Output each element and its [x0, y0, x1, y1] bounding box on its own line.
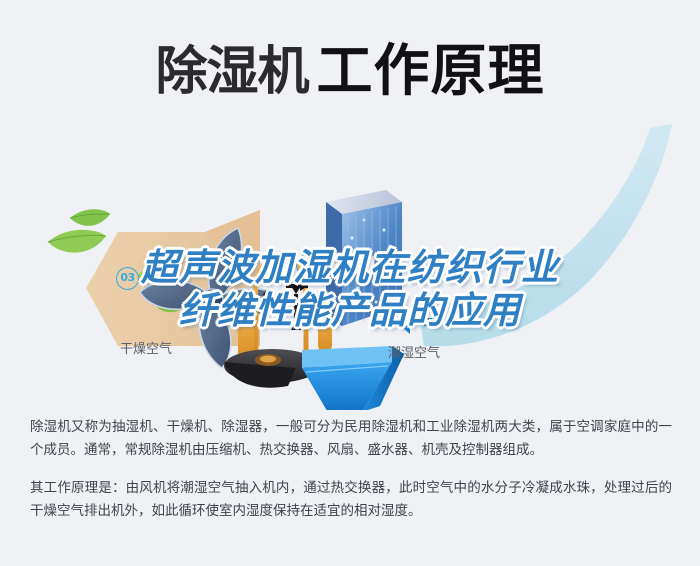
note-condensation: 器冷凝成水珠: [508, 407, 592, 410]
body-paragraph-2: 其工作原理是：由风机将潮湿空气抽入机内，通过热交换器，此时空气中的水分子冷凝成水…: [30, 477, 672, 523]
badge-step-humid-air: 01: [372, 306, 395, 329]
page-title-part2: 工作原理: [317, 39, 545, 102]
body-paragraph-1: 除湿机又称为抽湿机、干燥机、除湿器，一般可分为民用除湿机和工业除湿机两大类，属于…: [30, 416, 672, 462]
page-root: 除湿机工作原理: [0, 0, 700, 566]
callout-pointer-icon: [337, 271, 347, 282]
page-title-part1: 除湿机: [155, 43, 308, 101]
label-dry-air: 干燥空气: [120, 338, 172, 357]
page-title: 除湿机工作原理: [0, 26, 700, 107]
dehumidifier-diagram: 干燥空气 潮湿空气 水箱 03 02 01 03 热交换器 器冷凝成水珠 从上部…: [0, 110, 700, 410]
airflow-arc-shape: [420, 124, 672, 346]
label-humid-air: 潮湿空气: [388, 342, 440, 361]
article-body: 除湿机又称为抽湿机、干燥机、除湿器，一般可分为民用除湿机和工业除湿机两大类，属于…: [30, 416, 672, 523]
badge-step-dry-air: 03: [116, 267, 139, 290]
